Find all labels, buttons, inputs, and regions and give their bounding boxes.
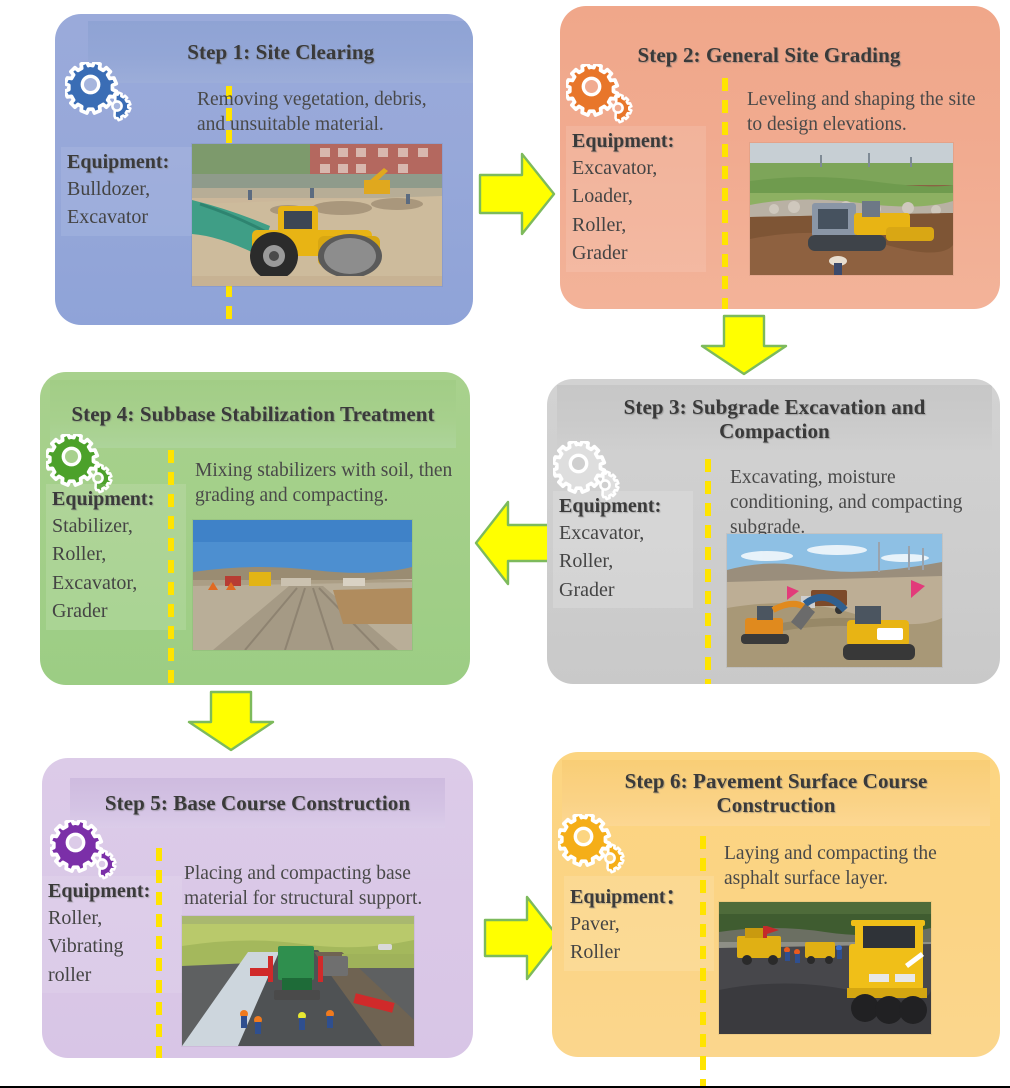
equipment-item: Excavator, (572, 154, 700, 182)
step-title-band-1: Step 1: Site Clearing (88, 21, 473, 83)
gears-icon (558, 814, 634, 876)
arrow-left-3-to-4 (474, 497, 552, 589)
step-title-4: Step 4: Subbase Stabilization Treatment (71, 402, 434, 426)
step-photo-1[interactable] (192, 144, 442, 286)
divider-dashed-6 (700, 836, 706, 1057)
step-description-3: Excavating, moisture conditioning, and c… (730, 466, 980, 541)
arrow-down-4-to-5 (185, 690, 277, 752)
step-description-6: Laying and compacting the asphalt surfac… (724, 842, 964, 892)
step-card-5[interactable]: Step 5: Base Course Construction Equipme… (42, 758, 473, 1058)
equipment-list-3: Excavator, Roller, Grader (559, 519, 687, 604)
equipment-item: Grader (52, 597, 180, 625)
step-photo-3[interactable] (727, 534, 942, 667)
equipment-item: Roller (570, 938, 708, 966)
step-title-2: Step 2: General Site Grading (638, 43, 901, 67)
step-card-6[interactable]: Step 6: Pavement Surface Course Construc… (552, 752, 1000, 1057)
arrow-right-5-to-6 (483, 892, 561, 984)
equipment-item: Stabilizer, (52, 512, 180, 540)
divider-dashed-4 (168, 450, 174, 685)
equipment-list-1: Bulldozer, Excavator (67, 175, 195, 232)
equipment-item: Grader (559, 576, 687, 604)
equipment-item: Paver, (570, 910, 708, 938)
step-card-3[interactable]: Step 3: Subgrade Excavation and Compacti… (547, 379, 1000, 684)
divider-dashed-5 (156, 848, 162, 1058)
step-title-6: Step 6: Pavement Surface Course Construc… (572, 769, 980, 818)
divider-dashed-6-tail (700, 1057, 706, 1087)
equipment-item: Bulldozer, (67, 175, 195, 203)
equipment-block-6: Equipment： Paver, Roller (564, 876, 714, 971)
step-photo-4[interactable] (193, 520, 412, 650)
step-title-5: Step 5: Base Course Construction (105, 791, 410, 815)
arrow-right-1-to-2 (478, 149, 556, 239)
equipment-label: Equipment: (559, 495, 687, 518)
equipment-item: Roller, (52, 540, 180, 568)
step-card-2[interactable]: Step 2: General Site Grading Equipment: … (560, 6, 1000, 309)
equipment-item: Excavator (67, 203, 195, 231)
step-photo-6[interactable] (719, 902, 931, 1034)
step-description-2: Leveling and shaping the site to design … (747, 88, 995, 138)
step-photo-2[interactable] (750, 143, 953, 275)
equipment-item: Excavator, (52, 569, 180, 597)
equipment-item: Roller, (559, 547, 687, 575)
divider-dashed-3 (705, 459, 711, 684)
step-title-3: Step 3: Subgrade Excavation and Compacti… (567, 395, 982, 444)
step-description-5: Placing and compacting base material for… (184, 862, 436, 912)
equipment-list-2: Excavator, Loader, Roller, Grader (572, 154, 700, 268)
gears-icon (50, 820, 126, 882)
equipment-label: Equipment: (572, 130, 700, 153)
equipment-label: Equipment： (570, 880, 708, 909)
step-title-1: Step 1: Site Clearing (187, 40, 374, 64)
equipment-block-4: Equipment: Stabilizer, Roller, Excavator… (46, 484, 186, 630)
step-photo-5[interactable] (182, 916, 414, 1046)
step-card-4[interactable]: Step 4: Subbase Stabilization Treatment … (40, 372, 470, 685)
equipment-block-1: Equipment: Bulldozer, Excavator (61, 147, 201, 236)
equipment-block-3: Equipment: Excavator, Roller, Grader (553, 491, 693, 608)
gears-icon (566, 64, 642, 126)
equipment-item: Loader, (572, 182, 700, 210)
equipment-item: Grader (572, 239, 700, 267)
gears-icon (65, 62, 141, 124)
equipment-label: Equipment: (52, 488, 180, 511)
step-card-1[interactable]: Step 1: Site Clearing Equipment: Bulldoz… (55, 14, 473, 325)
equipment-list-6: Paver, Roller (570, 910, 708, 967)
step-description-4: Mixing stabilizers with soil, then gradi… (195, 459, 467, 509)
divider-dashed-2 (722, 78, 728, 309)
step-description-1: Removing vegetation, debris, and unsuita… (197, 88, 447, 138)
equipment-item: Roller, (572, 211, 700, 239)
equipment-item: Excavator, (559, 519, 687, 547)
step-title-band-5: Step 5: Base Course Construction (70, 778, 445, 828)
equipment-list-4: Stabilizer, Roller, Excavator, Grader (52, 512, 180, 626)
equipment-label: Equipment: (67, 151, 195, 174)
equipment-block-2: Equipment: Excavator, Loader, Roller, Gr… (566, 126, 706, 272)
process-flow-diagram: Step 1: Site Clearing Equipment: Bulldoz… (0, 0, 1010, 1088)
arrow-down-2-to-3 (698, 314, 790, 376)
